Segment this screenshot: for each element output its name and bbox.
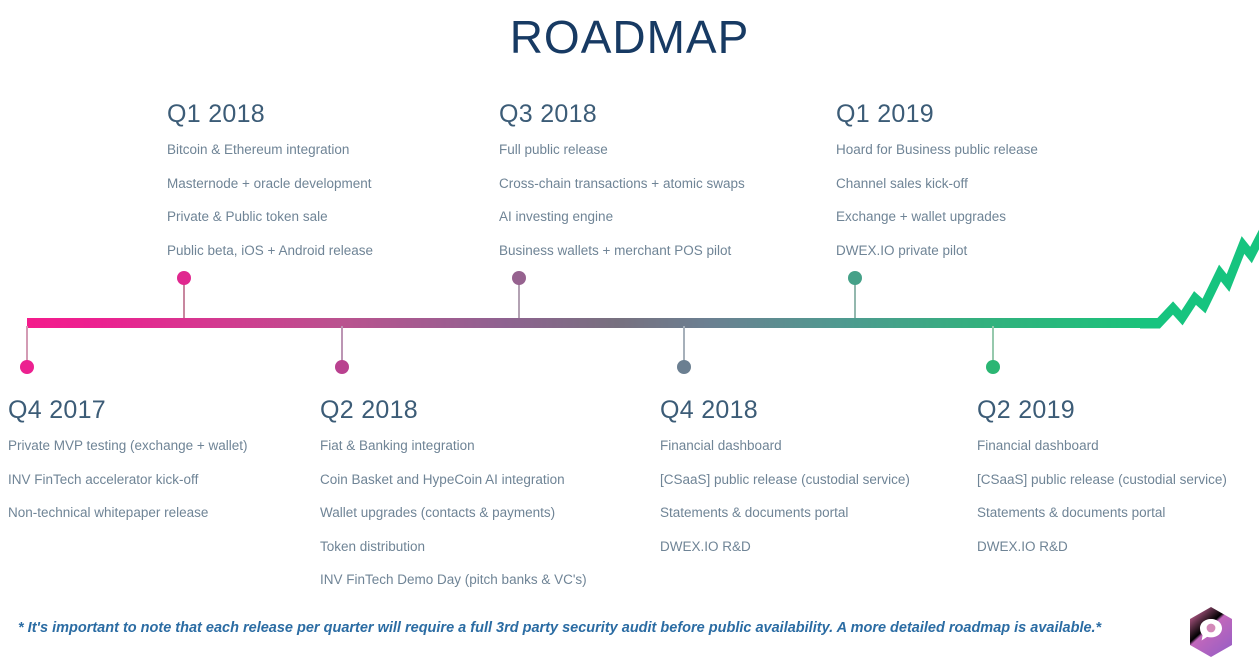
quarter-title-q3-2018: Q3 2018: [499, 100, 745, 129]
quarter-item: Financial dashboard: [977, 439, 1227, 453]
quarter-item: DWEX.IO private pilot: [836, 244, 1038, 258]
quarter-item: INV FinTech accelerator kick-off: [8, 473, 248, 487]
quarter-item: Financial dashboard: [660, 439, 910, 453]
page-title: ROADMAP: [0, 10, 1259, 64]
milestone-dot-q1-2019[interactable]: [848, 271, 862, 285]
hexagon-speech-bubble-logo-icon: [1188, 606, 1234, 658]
quarter-title-q4-2018: Q4 2018: [660, 396, 910, 425]
quarter-block-q1-2019: Q1 2019 Hoard for Business public releas…: [836, 100, 1038, 257]
quarter-item: Bitcoin & Ethereum integration: [167, 143, 373, 157]
milestone-stem-q1-2018: [183, 284, 185, 320]
footnote-text: * It's important to note that each relea…: [18, 620, 1101, 636]
quarter-item: Token distribution: [320, 540, 587, 554]
timeline-bar: [27, 318, 1160, 328]
quarter-title-q1-2019: Q1 2019: [836, 100, 1038, 129]
quarter-item: Statements & documents portal: [660, 506, 910, 520]
quarter-item: [CSaaS] public release (custodial servic…: [977, 473, 1227, 487]
quarter-item: Fiat & Banking integration: [320, 439, 587, 453]
milestone-stem-q3-2018: [518, 284, 520, 320]
quarter-item: DWEX.IO R&D: [977, 540, 1227, 554]
quarter-title-q2-2018: Q2 2018: [320, 396, 587, 425]
milestone-dot-q3-2018[interactable]: [512, 271, 526, 285]
milestone-dot-q2-2019[interactable]: [986, 360, 1000, 374]
quarter-item: Full public release: [499, 143, 745, 157]
quarter-title-q1-2018: Q1 2018: [167, 100, 373, 129]
milestone-dot-q4-2018[interactable]: [677, 360, 691, 374]
quarter-item: Coin Basket and HypeCoin AI integration: [320, 473, 587, 487]
quarter-item: Channel sales kick-off: [836, 177, 1038, 191]
quarter-block-q4-2018: Q4 2018 Financial dashboard [CSaaS] publ…: [660, 396, 910, 553]
quarter-item: Public beta, iOS + Android release: [167, 244, 373, 258]
quarter-item: Business wallets + merchant POS pilot: [499, 244, 745, 258]
milestone-dot-q4-2017[interactable]: [20, 360, 34, 374]
quarter-item: Statements & documents portal: [977, 506, 1227, 520]
quarter-title-q2-2019: Q2 2019: [977, 396, 1227, 425]
quarter-item: AI investing engine: [499, 210, 745, 224]
milestone-dot-q1-2018[interactable]: [177, 271, 191, 285]
quarter-block-q4-2017: Q4 2017 Private MVP testing (exchange + …: [8, 396, 248, 520]
quarter-title-q4-2017: Q4 2017: [8, 396, 248, 425]
quarter-item: Non-technical whitepaper release: [8, 506, 248, 520]
milestone-dot-q2-2018[interactable]: [335, 360, 349, 374]
quarter-block-q1-2018: Q1 2018 Bitcoin & Ethereum integration M…: [167, 100, 373, 257]
quarter-item: Private & Public token sale: [167, 210, 373, 224]
growth-arrow-icon: [1140, 200, 1259, 335]
quarter-item: [CSaaS] public release (custodial servic…: [660, 473, 910, 487]
quarter-item: Cross-chain transactions + atomic swaps: [499, 177, 745, 191]
quarter-item: INV FinTech Demo Day (pitch banks & VC's…: [320, 573, 587, 587]
quarter-item: Wallet upgrades (contacts & payments): [320, 506, 587, 520]
quarter-block-q2-2019: Q2 2019 Financial dashboard [CSaaS] publ…: [977, 396, 1227, 553]
quarter-item: Masternode + oracle development: [167, 177, 373, 191]
quarter-item: DWEX.IO R&D: [660, 540, 910, 554]
roadmap-canvas: ROADMAP Q1 2018 Bitcoin & Ethereum integ…: [0, 0, 1259, 666]
quarter-block-q2-2018: Q2 2018 Fiat & Banking integration Coin …: [320, 396, 587, 587]
milestone-stem-q1-2019: [854, 284, 856, 320]
quarter-item: Private MVP testing (exchange + wallet): [8, 439, 248, 453]
quarter-item: Hoard for Business public release: [836, 143, 1038, 157]
quarter-item: Exchange + wallet upgrades: [836, 210, 1038, 224]
quarter-block-q3-2018: Q3 2018 Full public release Cross-chain …: [499, 100, 745, 257]
